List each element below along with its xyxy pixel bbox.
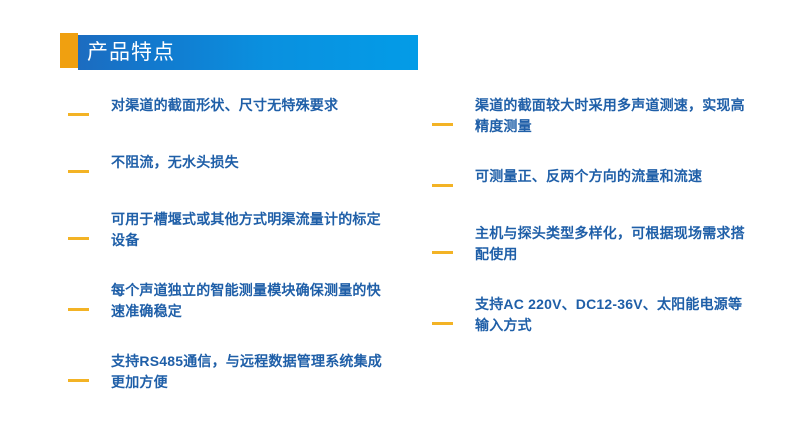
header-accent-block — [60, 33, 78, 68]
list-item: 支持AC 220V、DC12-36V、太阳能电源等输入方式 — [432, 294, 752, 336]
page-title: 产品特点 — [87, 42, 175, 63]
list-item: 支持RS485通信，与远程数据管理系统集成更加方便 — [68, 351, 388, 393]
dash-bullet-icon — [68, 237, 89, 240]
list-item: 渠道的截面较大时采用多声道测速，实现高精度测量 — [432, 95, 752, 137]
list-item: 每个声道独立的智能测量模块确保测量的快速准确稳定 — [68, 280, 388, 322]
list-item-label: 支持AC 220V、DC12-36V、太阳能电源等输入方式 — [475, 294, 750, 336]
list-item-label: 主机与探头类型多样化，可根据现场需求搭配使用 — [475, 223, 750, 265]
dash-bullet-icon — [432, 184, 453, 187]
dash-bullet-icon — [68, 379, 89, 382]
list-item: 不阻流，无水头损失 — [68, 152, 388, 180]
section-header: 产品特点 — [60, 33, 418, 68]
list-item: 对渠道的截面形状、尺寸无特殊要求 — [68, 95, 388, 123]
list-item-label: 每个声道独立的智能测量模块确保测量的快速准确稳定 — [111, 280, 386, 322]
list-item-label: 可用于槽堰式或其他方式明渠流量计的标定设备 — [111, 209, 386, 251]
list-item-label: 对渠道的截面形状、尺寸无特殊要求 — [111, 95, 386, 116]
dash-bullet-icon — [432, 322, 453, 325]
dash-bullet-icon — [432, 251, 453, 254]
dash-bullet-icon — [68, 308, 89, 311]
feature-column-right: 渠道的截面较大时采用多声道测速，实现高精度测量 可测量正、反两个方向的流量和流速… — [432, 95, 752, 365]
list-item-label: 不阻流，无水头损失 — [111, 152, 386, 173]
list-item-label: 渠道的截面较大时采用多声道测速，实现高精度测量 — [475, 95, 750, 137]
list-item: 主机与探头类型多样化，可根据现场需求搭配使用 — [432, 223, 752, 265]
dash-bullet-icon — [432, 123, 453, 126]
feature-column-left: 对渠道的截面形状、尺寸无特殊要求 不阻流，无水头损失 可用于槽堰式或其他方式明渠… — [68, 95, 388, 422]
list-item: 可测量正、反两个方向的流量和流速 — [432, 166, 752, 194]
list-item-label: 可测量正、反两个方向的流量和流速 — [475, 166, 750, 187]
dash-bullet-icon — [68, 113, 89, 116]
list-item-label: 支持RS485通信，与远程数据管理系统集成更加方便 — [111, 351, 386, 393]
list-item: 可用于槽堰式或其他方式明渠流量计的标定设备 — [68, 209, 388, 251]
dash-bullet-icon — [68, 170, 89, 173]
header-bar: 产品特点 — [78, 35, 418, 70]
